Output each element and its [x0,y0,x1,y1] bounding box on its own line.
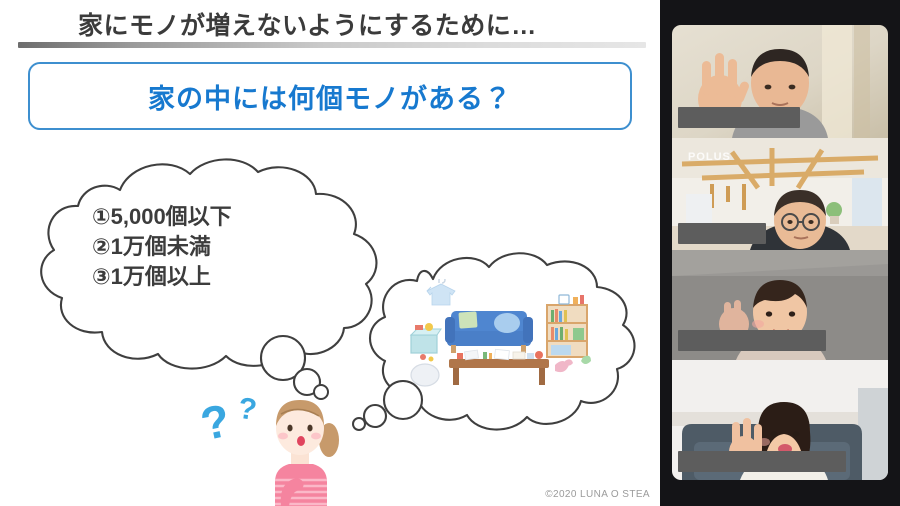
floor-clutter-icon [555,356,591,372]
toy-box-icon [411,323,441,362]
hanging-shirt-icon [427,279,455,305]
room-illustration [407,279,597,389]
title-divider [18,42,646,48]
thinking-woman-illustration [255,388,345,506]
room-bubble-tail [345,378,455,448]
question-box: 家の中には何個モノがある？ [28,62,632,130]
answer-option-3: ③1万個以上 [92,262,372,292]
bookshelf-icon [547,295,587,357]
answer-list: ①5,000個以下 ②1万個未満 ③1万個以上 [92,202,372,292]
answer-option-2: ②1万個未満 [92,232,372,262]
video-tile-participant-4[interactable] [672,360,888,480]
page-title: 家にモノが増えないようにするために… [78,6,537,42]
participant-name-redacted-1 [678,107,800,128]
room-items-svg [407,279,597,391]
video-tile-participant-3[interactable] [672,250,888,360]
participant-name-redacted-3 [678,330,826,351]
svg-text:?: ? [200,394,234,451]
svg-text:POLUS: POLUS [688,151,731,163]
participant-name-redacted-2 [678,223,766,244]
slide-screenshot: 家にモノが増えないようにするために… 家の中には何個モノがある？ ①5,000個… [0,0,900,506]
participant-name-redacted-4 [678,451,846,472]
answer-option-1: ①5,000個以下 [92,202,372,232]
question-box-text: 家の中には何個モノがある？ [148,77,512,116]
copyright-notice: ©2020 LUNA O STEA [545,489,650,500]
video-participants-panel: POLUS [660,0,900,506]
presentation-slide: 家にモノが増えないようにするために… 家の中には何個モノがある？ ①5,000個… [0,0,660,506]
coffee-table-icon [449,349,549,385]
video-tile-participant-1[interactable] [672,25,888,138]
sofa-icon [445,311,533,353]
video-tile-participant-2[interactable]: POLUS [672,138,888,250]
